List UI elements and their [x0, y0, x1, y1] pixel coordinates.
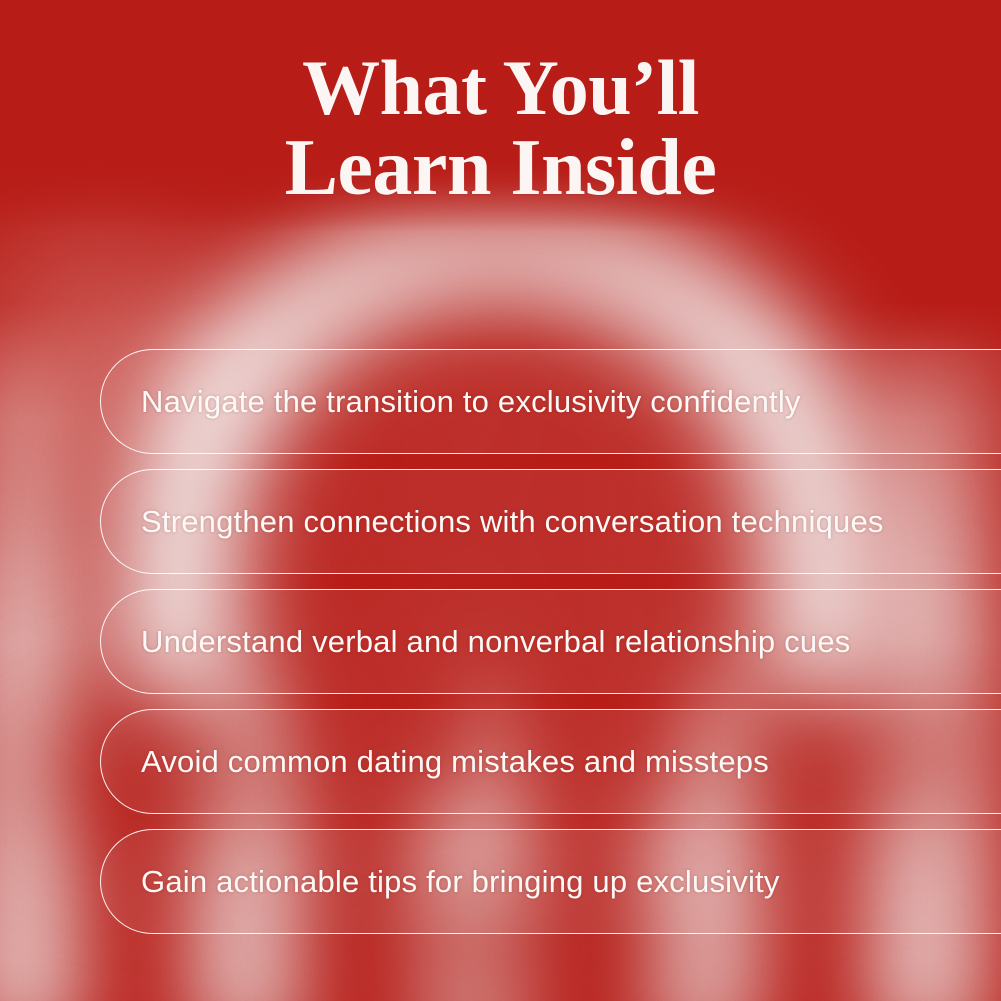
benefit-label: Gain actionable tips for bringing up exc… [141, 864, 780, 900]
benefit-label: Avoid common dating mistakes and misstep… [141, 744, 769, 780]
page-title-line-1: What You’ll [0, 52, 1001, 125]
page-title-line-2: Learn Inside [0, 131, 1001, 205]
promo-card: What You’ll Learn Inside Navigate the tr… [0, 0, 1001, 1001]
benefit-label: Navigate the transition to exclusivity c… [141, 384, 801, 420]
benefit-pill-4[interactable]: Avoid common dating mistakes and misstep… [100, 709, 1001, 814]
benefit-pill-5[interactable]: Gain actionable tips for bringing up exc… [100, 829, 1001, 934]
benefit-pill-2[interactable]: Strengthen connections with conversation… [100, 469, 1001, 574]
benefit-pill-1[interactable]: Navigate the transition to exclusivity c… [100, 349, 1001, 454]
page-title: What You’ll Learn Inside [0, 52, 1001, 205]
benefits-list: Navigate the transition to exclusivity c… [100, 349, 1001, 934]
benefit-label: Understand verbal and nonverbal relation… [141, 624, 850, 660]
benefit-pill-3[interactable]: Understand verbal and nonverbal relation… [100, 589, 1001, 694]
benefit-label: Strengthen connections with conversation… [141, 504, 884, 540]
